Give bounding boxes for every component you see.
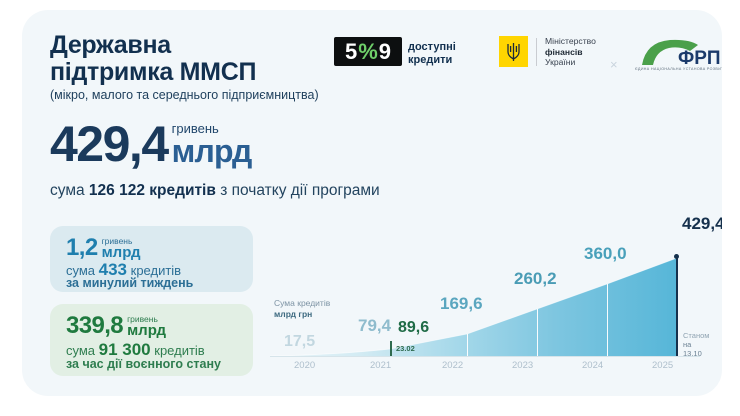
badge-caption-line-1: доступні [408,41,456,53]
frp-caption: ЄДИНА НАЦІОНАЛЬНА УСТАНОВА РОЗВИТКУ [634,67,722,71]
war-start-date: 23.02 [396,344,415,353]
ministry-of-finance-logo: Міністерство фінансів України [499,36,596,68]
hero-sub-suffix: з початку дії програми [216,182,380,199]
martial-count-prefix: сума [66,343,99,358]
chart-label-2022: 169,6 [440,294,483,314]
chart-label-2021: 79,4 [358,316,391,336]
current-value-dot [674,254,679,259]
hero-sub-prefix: сума [50,182,89,199]
logo-divider [536,38,537,66]
chart-gridline-2024 [607,284,608,356]
hero-total: 429,4гривеньмлрд [50,118,252,174]
week-unit: гривеньмлрд [102,235,141,260]
badge-caption: доступні кредити [408,41,456,66]
x-tick-2025: 2025 [652,360,673,371]
hero-unit: гривеньмлрд [172,118,252,166]
week-amount: 1,2 [66,235,98,260]
badge-digit-5: 5 [345,41,357,63]
week-amount-row: 1,2гривеньмлрд [66,235,141,260]
stat-card-martial-law: 339,8гривеньмлрд сума 91 300 кредитів за… [50,304,253,376]
chart-gridline-2022 [467,334,468,356]
chart-axis-caption: Сума кредитів млрд грн [274,298,330,319]
chart-label-2024: 360,0 [584,244,627,264]
martial-scale-label: млрд [127,324,166,338]
chart-caption-line-2: млрд грн [274,309,312,319]
chart-caption-line-1: Сума кредитів [274,298,330,308]
page-title: Державна підтримка ММСП [50,32,256,86]
martial-count-suffix: кредитів [151,343,205,358]
chart-label-2020: 17,5 [284,333,315,351]
badge-caption-line-2: кредити [408,54,452,66]
hero-amount: 429,4 [50,118,168,170]
infographic-poster: Державна підтримка ММСП (мікро, малого т… [22,10,722,396]
martial-period-label: за час дії воєнного стану [66,357,221,371]
x-tick-2023: 2023 [512,360,533,371]
chart-label-2025: 429,4 [682,214,722,234]
x-tick-2020: 2020 [294,360,315,371]
martial-amount-row: 339,8гривеньмлрд [66,313,166,338]
stat-card-week: 1,2гривеньмлрд сума 433 кредитів за мину… [50,226,253,292]
x-tick-2024: 2024 [582,360,603,371]
war-start-value: 89,6 [398,319,429,337]
chart-gridline-2023 [537,309,538,356]
loans-area-chart: Сума кредитів млрд грн 17,5 79,4 169,6 2… [262,206,706,378]
as-of-line-2: на 13.10 [683,340,702,358]
logo-separator-icon: × [610,57,618,72]
chart-label-2023: 260,2 [514,269,557,289]
chart-baseline [270,356,700,357]
ministry-name: Міністерство фінансів України [545,36,596,68]
frp-logo: ФРП [632,34,722,70]
martial-amount: 339,8 [66,313,123,338]
badge-digit-9: 9 [379,41,391,63]
ministry-line-3: України [545,57,575,67]
as-of-line-1: Станом [683,331,709,340]
chart-x-axis: 2020 2021 2022 2023 2024 2025 [262,360,706,374]
x-tick-2022: 2022 [442,360,463,371]
as-of-note: Станом на 13.10 [683,331,709,358]
current-value-line [676,256,678,356]
hero-description: сума 126 122 кредитів з початку дії прог… [50,182,380,200]
hero-scale-label: млрд [172,136,252,166]
percent-icon: % [357,41,379,63]
week-scale-label: млрд [102,246,141,260]
x-tick-2021: 2021 [370,360,391,371]
martial-unit: гривеньмлрд [127,313,166,338]
ministry-line-2: фінансів [545,47,583,57]
title-line-2: підтримка ММСП [50,58,256,86]
week-period-label: за минулий тиждень [66,276,193,290]
page-subtitle: (мікро, малого та середнього підприємниц… [50,88,319,102]
hero-loan-count: 126 122 кредитів [89,182,216,199]
program-579-badge: 5 % 9 [334,37,402,66]
war-start-marker-line [390,341,392,356]
svg-text:ФРП: ФРП [678,48,721,69]
tryzub-icon [499,36,528,67]
title-line-1: Державна [50,31,171,59]
ministry-line-1: Міністерство [545,36,596,46]
